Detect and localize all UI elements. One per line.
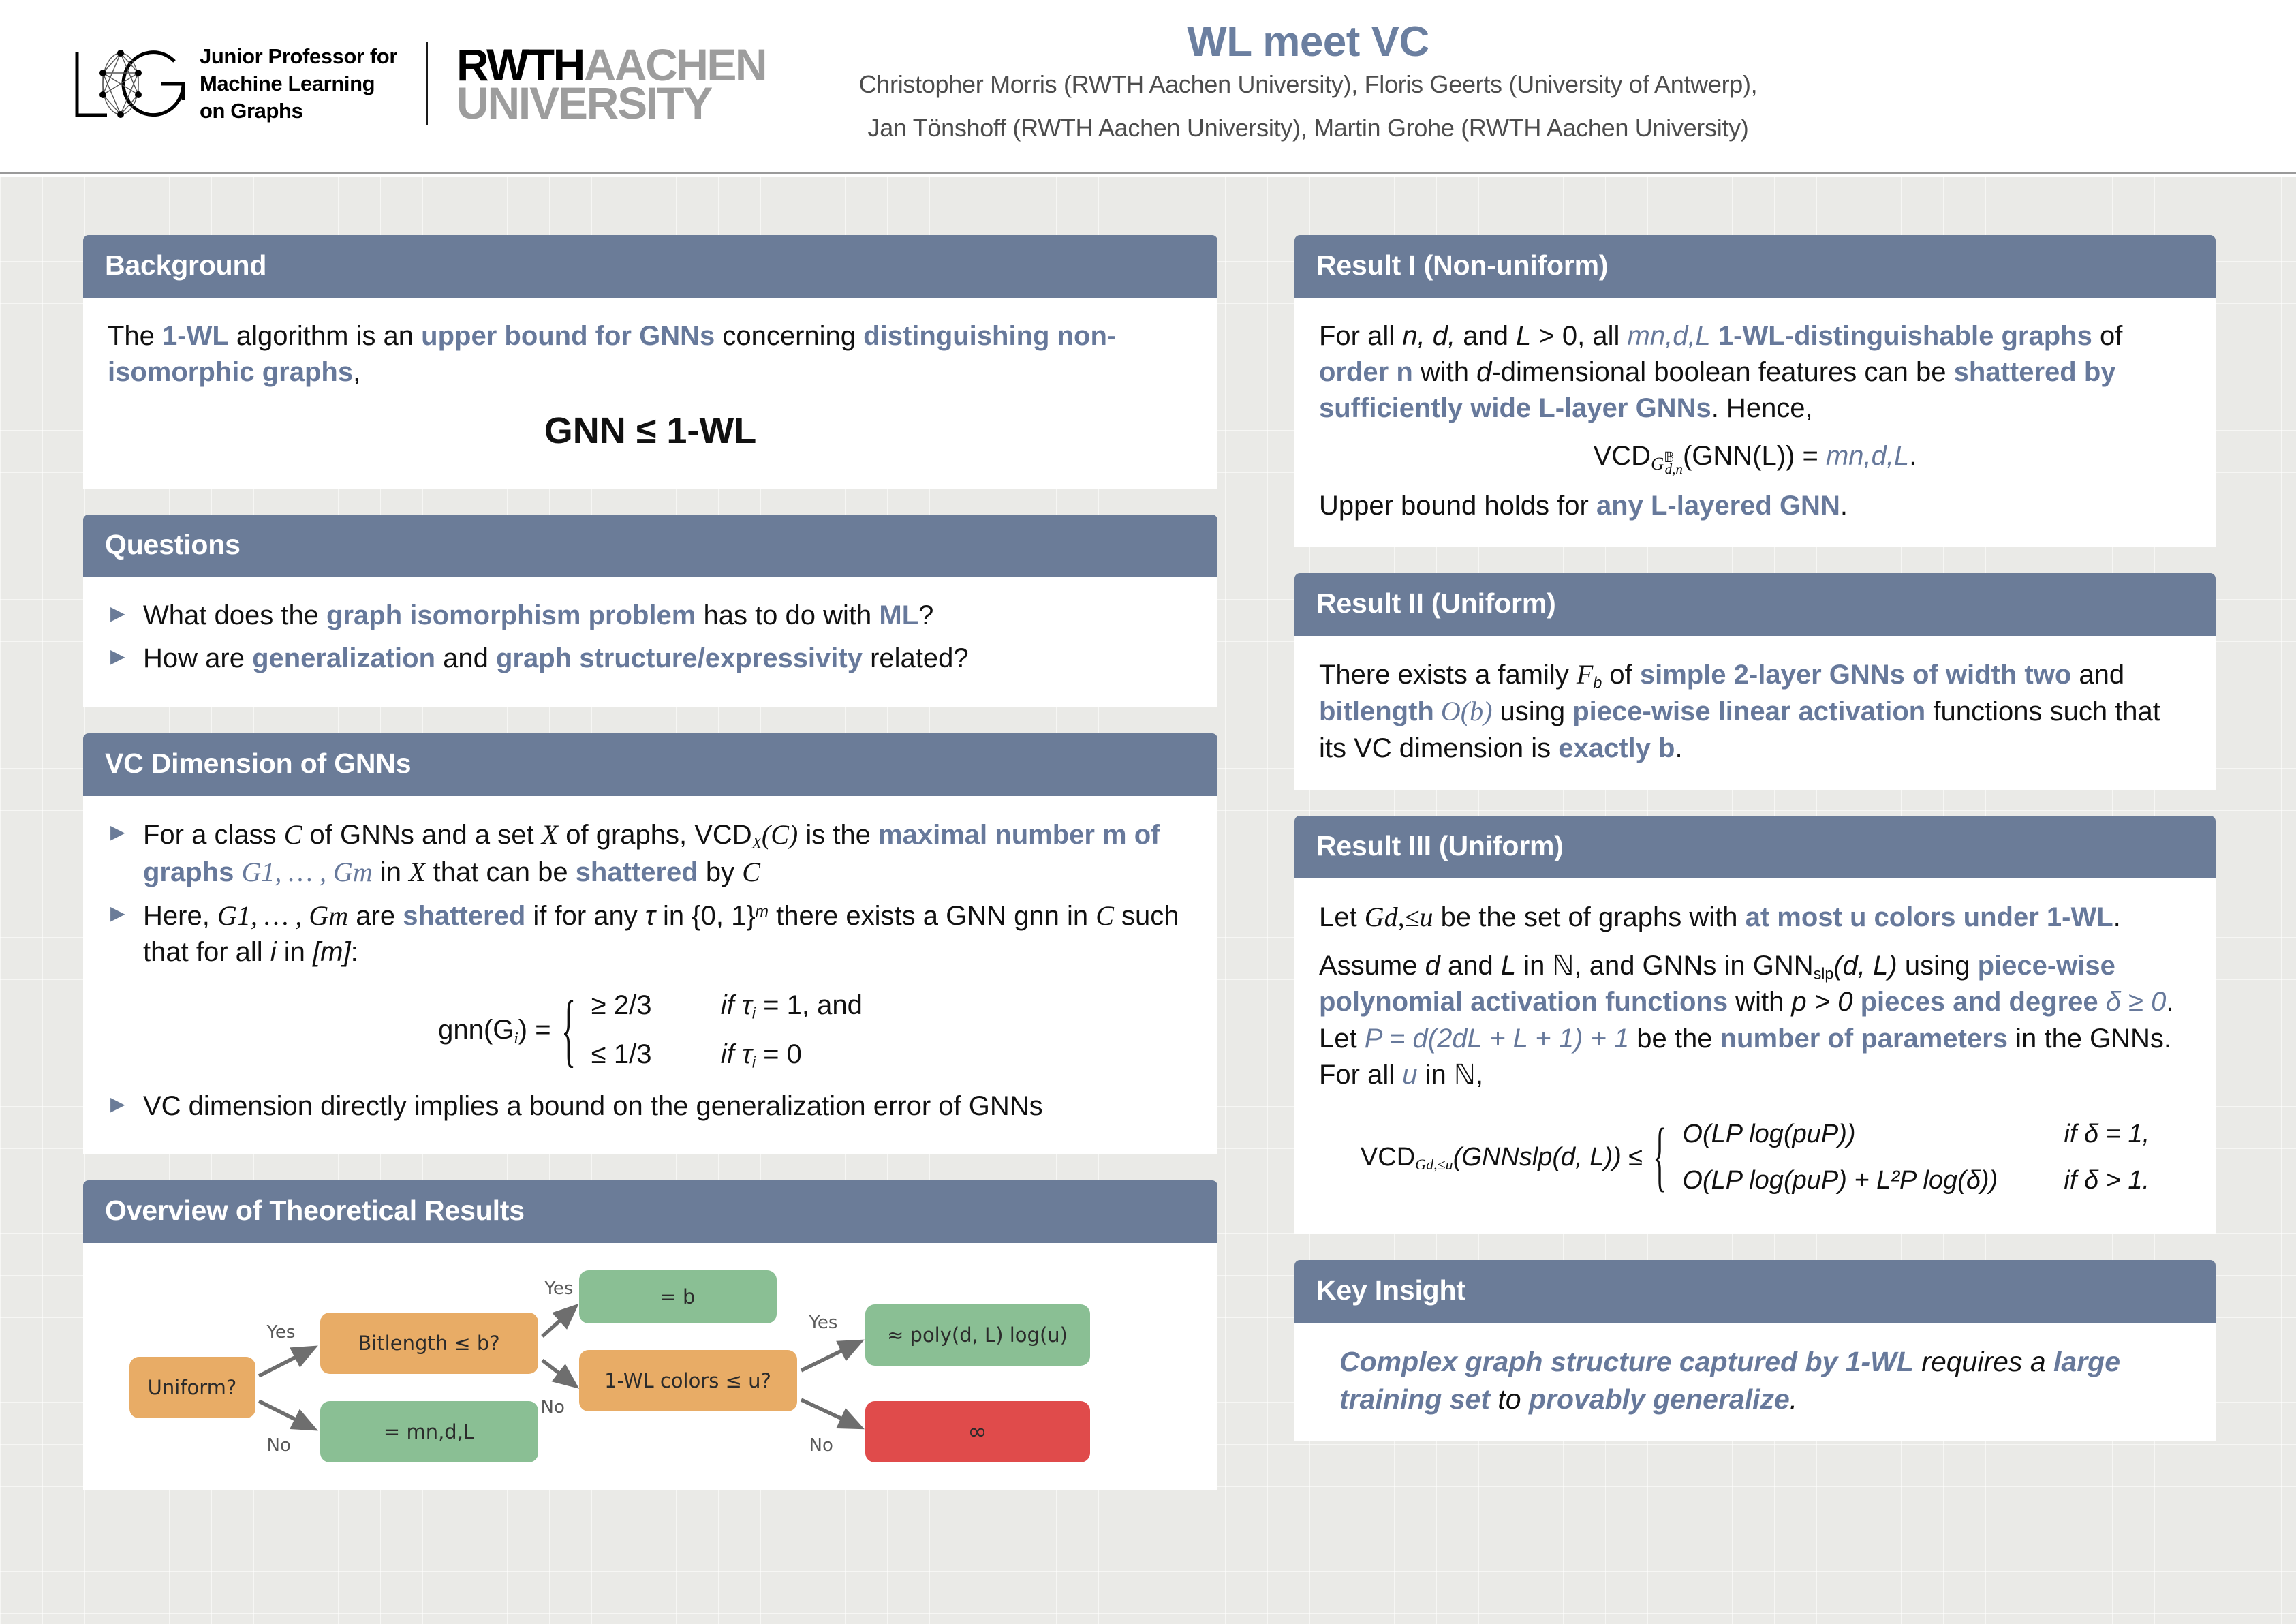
v2n: in: [277, 937, 313, 967]
r2a: There exists a family: [1319, 660, 1577, 690]
block-title-result-ii: Result II (Uniform): [1294, 573, 2216, 636]
v2i: m: [756, 902, 769, 920]
cases-rows: ≥ 2/3if τi = 1, and ≤ 1/3if τi = 0: [591, 981, 863, 1079]
r2b: F: [1577, 659, 1593, 690]
v2k: C: [1096, 900, 1114, 931]
r3k: slp: [1814, 965, 1834, 983]
case2-value: ≤ 1/3: [591, 1037, 721, 1073]
left-brace: {: [561, 990, 576, 1071]
vc-bullet-list-2: VC dimension directly implies a bound on…: [108, 1088, 1193, 1124]
block-content-vc-dimension: For a class C of GNNs and a set X of gra…: [83, 796, 1217, 1155]
v2m: i: [270, 937, 277, 967]
flow-edge-label-yes-3: Yes: [809, 1311, 838, 1335]
v2h: {0, 1}: [692, 901, 755, 931]
r3o: with: [1728, 987, 1791, 1017]
r3s: δ ≥ 0: [2098, 987, 2167, 1017]
log-lab-logo: Junior Professor for Machine Learning on…: [72, 43, 397, 125]
v1p: C: [742, 857, 760, 887]
v2d: shattered: [403, 901, 525, 931]
r3y: u: [1402, 1060, 1417, 1090]
flow-node-uniform[interactable]: Uniform?: [129, 1357, 255, 1418]
list-item: What does the graph isomorphism problem …: [108, 598, 1193, 634]
block-key-insight: Key Insight Complex graph structure capt…: [1294, 1260, 2216, 1441]
case2-cond-end: = 0: [756, 1039, 802, 1069]
case-row-2: ≤ 1/3if τi = 0: [591, 1030, 863, 1079]
flow-edge-label-no-1: No: [267, 1434, 291, 1458]
r1eq3: d,n: [1665, 461, 1683, 477]
flow-edge-label-yes-1: Yes: [267, 1321, 296, 1345]
r3case2: O(LP log(puP) + L²P log(δ)): [1682, 1163, 2064, 1198]
r1eq2: G: [1651, 453, 1664, 474]
logo-group: Junior Professor for Machine Learning on…: [72, 42, 766, 125]
r3-cases-lhs: VCDGd,≤u(GNNslp(d, L)) ≤: [1361, 1140, 1643, 1175]
cl1: gnn(G: [438, 1015, 514, 1045]
bg-t1: The: [108, 321, 162, 351]
ki5: provably generalize: [1529, 1383, 1790, 1415]
case1-value: ≥ 2/3: [591, 987, 721, 1024]
right-column: Result I (Non-uniform) For all n, d, and…: [1294, 235, 2216, 1467]
q2a: How are: [143, 643, 252, 673]
v1h: is the: [798, 820, 878, 850]
case1-cond-end: = 1, and: [756, 990, 863, 1020]
result-iii-paragraph-1: Let Gd,≤u be the set of graphs with at m…: [1319, 899, 2191, 936]
ki1: Complex graph structure captured by 1-WL: [1339, 1346, 1914, 1377]
v1j: G1, … , Gm: [241, 857, 372, 887]
block-content-background: The 1-WL algorithm is an upper bound for…: [83, 298, 1217, 489]
block-result-ii: Result II (Uniform) There exists a famil…: [1294, 573, 2216, 790]
r3case1cond: if δ = 1,: [2064, 1120, 2150, 1148]
block-vc-dimension: VC Dimension of GNNs For a class C of GN…: [83, 733, 1217, 1155]
block-title-vc-dimension: VC Dimension of GNNs: [83, 733, 1217, 796]
v1g: (C): [762, 819, 798, 850]
r2g: bitlength: [1319, 696, 1434, 726]
log-graph-logo-icon: [72, 47, 189, 121]
list-item: For a class C of GNNs and a set X of gra…: [108, 816, 1193, 891]
r1h: of: [2092, 321, 2122, 351]
r3z: in ℕ,: [1418, 1060, 1484, 1090]
r1d: L: [1516, 321, 1531, 351]
q1c: has to do with: [696, 600, 879, 630]
background-paragraph: The 1-WL algorithm is an upper bound for…: [108, 318, 1193, 390]
log-line-2: Machine Learning: [200, 70, 397, 97]
r3-cases-rows: O(LP log(puP))if δ = 1, O(LP log(puP) + …: [1682, 1111, 2150, 1204]
result-i-paragraph-1: For all n, d, and L > 0, all mn,d,L 1-WL…: [1319, 318, 2191, 427]
r3b: Gd,≤u: [1365, 902, 1433, 932]
block-content-result-i: For all n, d, and L > 0, all mn,d,L 1-WL…: [1294, 298, 2216, 547]
flow-node-wl-colors[interactable]: 1-WL colors ≤ u?: [579, 1350, 797, 1411]
v2f: τ: [645, 901, 655, 931]
theoretical-results-flowchart: Uniform? Bitlength ≤ b? = b = mn,d,L 1-W…: [109, 1265, 1192, 1469]
r1eq4: (GNN(L)) =: [1683, 441, 1826, 471]
r1e: > 0, all: [1531, 321, 1627, 351]
vc-bullet-list: For a class C of GNNs and a set X of gra…: [108, 816, 1193, 971]
v1m: that can be: [426, 857, 576, 887]
r3eq2: Gd,≤u: [1415, 1156, 1453, 1173]
r3l: (d, L): [1833, 951, 1897, 981]
r2j: piece-wise linear activation: [1572, 696, 1925, 726]
flow-node-eq-b[interactable]: = b: [579, 1270, 777, 1323]
block-questions: Questions What does the graph isomorphis…: [83, 515, 1217, 707]
list-item: VC dimension directly implies a bound on…: [108, 1088, 1193, 1124]
flow-edge-label-no-2: No: [541, 1396, 565, 1420]
block-background: Background The 1-WL algorithm is an uppe…: [83, 235, 1217, 489]
r1eq6: .: [1909, 441, 1917, 471]
v1e: of graphs, VCD: [558, 820, 752, 850]
v1b: C: [284, 819, 302, 850]
authors-line-2: Jan Tönshoff (RWTH Aachen University), M…: [763, 114, 1853, 142]
r1j: with: [1413, 357, 1476, 387]
poster-body: Background The 1-WL algorithm is an uppe…: [0, 177, 2296, 1624]
block-title-questions: Questions: [83, 515, 1217, 577]
v1d: X: [542, 819, 558, 850]
r3p: p > 0: [1791, 987, 1852, 1017]
r3r: degree: [2008, 987, 2098, 1017]
r1l: -dimensional boolean features can be: [1491, 357, 1953, 387]
v2b: G1, … , Gm: [217, 900, 348, 931]
q2c: and: [435, 643, 496, 673]
result-iii-equation: VCDGd,≤u(GNNslp(d, L)) ≤ { O(LP log(puP)…: [1319, 1111, 2191, 1204]
block-content-overview: Uniform? Bitlength ≤ b? = b = mn,d,L 1-W…: [83, 1243, 1217, 1490]
r3h: and: [1440, 951, 1501, 981]
r1eq1: VCD: [1594, 441, 1651, 471]
r3-left-brace: {: [1653, 1118, 1666, 1196]
q2d: graph structure/expressivity: [496, 643, 863, 673]
cases-wrapper: gnn(Gi) = { ≥ 2/3if τi = 1, and ≤ 1/3if …: [438, 981, 863, 1079]
r2e: simple 2-layer GNNs of width two: [1640, 660, 2071, 690]
r3case1: O(LP log(puP)): [1682, 1117, 2064, 1152]
r3g: d: [1425, 951, 1440, 981]
q1a: What does the: [143, 600, 326, 630]
title-block: WL meet VC Christopher Morris (RWTH Aach…: [763, 18, 1853, 157]
r2l: exactly b: [1558, 733, 1675, 763]
bg-t2: 1-WL: [162, 321, 229, 351]
list-item: How are generalization and graph structu…: [108, 641, 1193, 677]
log-line-1: Junior Professor for: [200, 43, 397, 70]
q2b: generalization: [252, 643, 435, 673]
v2a: Here,: [143, 901, 217, 931]
bg-t4: upper bound for GNNs: [421, 321, 715, 351]
case2-cond: if τ: [721, 1039, 752, 1069]
r3d: at most u colors under 1-WL: [1746, 902, 2113, 932]
v1f: X: [752, 834, 762, 852]
r3v: be the: [1629, 1024, 1720, 1054]
q1d: ML: [879, 600, 918, 630]
v1l: X: [409, 857, 425, 887]
r3i: L: [1501, 951, 1516, 981]
ki4: to: [1490, 1383, 1529, 1415]
block-content-key-insight: Complex graph structure captured by 1-WL…: [1294, 1323, 2216, 1441]
flow-node-poly[interactable]: ≈ poly(d, L) log(u): [865, 1304, 1090, 1366]
r1k: d: [1476, 357, 1491, 387]
v2p: :: [351, 937, 358, 967]
cl3: ) =: [518, 1015, 551, 1045]
v2o: [m]: [313, 937, 351, 967]
bg-t3: algorithm is an: [229, 321, 421, 351]
block-content-questions: What does the graph isomorphism problem …: [83, 577, 1217, 707]
r1b: n, d,: [1402, 321, 1455, 351]
flow-edge-label-no-3: No: [809, 1434, 833, 1458]
v2g: in: [655, 901, 692, 931]
r3j: in ℕ, and GNNs in GNN: [1516, 951, 1814, 981]
r1eq-sub: G𝔹d,n: [1651, 453, 1683, 474]
r3a: Let: [1319, 902, 1365, 932]
list-item: Here, G1, … , Gm are shattered if for an…: [108, 898, 1193, 970]
q2e: related?: [863, 643, 969, 673]
r1c: and: [1455, 321, 1516, 351]
r1f: mn,d,L: [1628, 321, 1711, 351]
v2c: are: [348, 901, 403, 931]
vc-cases-equation: gnn(Gi) = { ≥ 2/3if τi = 1, and ≤ 1/3if …: [108, 981, 1193, 1079]
block-title-key-insight: Key Insight: [1294, 1260, 2216, 1323]
r3case2cond: if δ > 1.: [2064, 1166, 2150, 1195]
log-line-3: on Graphs: [200, 97, 397, 125]
v1c: of GNNs and a set: [302, 820, 541, 850]
r2m: .: [1675, 733, 1682, 763]
result-i-equation: VCDG𝔹d,n(GNN(L)) = mn,d,L.: [1319, 438, 2191, 478]
poster-root: Junior Professor for Machine Learning on…: [0, 0, 2296, 1624]
r3eq3: (GNNslp(d, L)) ≤: [1453, 1143, 1643, 1171]
key-insight-text: Complex graph structure captured by 1-WL…: [1319, 1343, 2191, 1418]
block-content-result-ii: There exists a family Fb of simple 2-lay…: [1294, 636, 2216, 790]
r3c: be the set of graphs with: [1433, 902, 1746, 932]
page-title: WL meet VC: [763, 18, 1853, 66]
questions-list: What does the graph isomorphism problem …: [108, 598, 1193, 677]
case1-cond: if τ: [721, 990, 752, 1020]
ki6: .: [1790, 1383, 1797, 1415]
r1eq5: mn,d,L: [1826, 441, 1909, 471]
bg-t7: ,: [353, 357, 360, 387]
v1a: For a class: [143, 820, 284, 850]
block-content-result-iii: Let Gd,≤u be the set of graphs with at m…: [1294, 878, 2216, 1234]
flow-edge-label-yes-2: Yes: [545, 1277, 574, 1301]
block-result-iii: Result III (Uniform) Let Gd,≤u be the se…: [1294, 816, 2216, 1234]
bg-t5: concerning: [715, 321, 863, 351]
r1g: 1-WL-distinguishable graphs: [1711, 321, 2092, 351]
v2e: if for any: [525, 901, 645, 931]
r1p2c: .: [1840, 491, 1848, 521]
r3q: pieces and: [1853, 987, 2009, 1017]
r3u: P = d(2dL + L + 1) + 1: [1365, 1024, 1629, 1054]
r2h: O(b): [1434, 696, 1493, 726]
authors-line-1: Christopher Morris (RWTH Aachen Universi…: [763, 70, 1853, 99]
flow-node-infinity[interactable]: ∞: [865, 1401, 1090, 1462]
case-row-1: ≥ 2/3if τi = 1, and: [591, 981, 863, 1030]
v1n: shattered: [576, 857, 698, 887]
r3eq1: VCD: [1361, 1143, 1415, 1171]
block-title-overview: Overview of Theoretical Results: [83, 1180, 1217, 1243]
v2j: there exists a GNN gnn in: [769, 901, 1096, 931]
r2f: and: [2071, 660, 2124, 690]
result-i-paragraph-2: Upper bound holds for any L-layered GNN.: [1319, 488, 2191, 524]
poster-header: Junior Professor for Machine Learning on…: [0, 0, 2296, 174]
background-formula: GNN ≤ 1-WL: [108, 407, 1193, 456]
r2i: using: [1492, 696, 1572, 726]
flow-node-bitlength[interactable]: Bitlength ≤ b?: [320, 1313, 538, 1374]
r2c: b: [1593, 674, 1602, 692]
block-title-background: Background: [83, 235, 1217, 298]
cases-lhs: gnn(Gi) =: [438, 1012, 550, 1049]
r3e: .: [2113, 902, 2121, 932]
q1e: ?: [918, 600, 933, 630]
v1o: by: [698, 857, 742, 887]
ki2: requires a: [1914, 1346, 2053, 1377]
r1p2a: Upper bound holds for: [1319, 491, 1596, 521]
block-overview: Overview of Theoretical Results: [83, 1180, 1217, 1490]
r3w: number of parameters: [1720, 1024, 2008, 1054]
r3m: using: [1897, 951, 1978, 981]
r3-cases-wrapper: VCDGd,≤u(GNNslp(d, L)) ≤ { O(LP log(puP)…: [1361, 1111, 2150, 1204]
logo-divider: [426, 42, 428, 125]
result-ii-paragraph: There exists a family Fb of simple 2-lay…: [1319, 656, 2191, 767]
flow-node-eq-m[interactable]: = mn,d,L: [320, 1401, 538, 1462]
v1k: in: [373, 857, 409, 887]
r3-case-row-1: O(LP log(puP))if δ = 1,: [1682, 1111, 2150, 1158]
r1n: . Hence,: [1711, 393, 1813, 423]
q1b: graph isomorphism problem: [326, 600, 696, 630]
block-title-result-iii: Result III (Uniform): [1294, 816, 2216, 878]
r3f: Assume: [1319, 951, 1425, 981]
block-result-i: Result I (Non-uniform) For all n, d, and…: [1294, 235, 2216, 547]
r3-case-row-2: O(LP log(puP) + L²P log(δ))if δ > 1.: [1682, 1157, 2150, 1204]
r2d: of: [1602, 660, 1640, 690]
r1a: For all: [1319, 321, 1402, 351]
result-iii-paragraph-2: Assume d and L in ℕ, and GNNs in GNNslp(…: [1319, 948, 2191, 1093]
left-column: Background The 1-WL algorithm is an uppe…: [83, 235, 1217, 1516]
r1i: order n: [1319, 357, 1413, 387]
r1p2b: any L-layered GNN: [1596, 491, 1840, 521]
log-lab-wordmark: Junior Professor for Machine Learning on…: [200, 43, 397, 125]
block-title-result-i: Result I (Non-uniform): [1294, 235, 2216, 298]
rwth-logo: RWTHAACHEN UNIVERSITY: [456, 46, 766, 122]
